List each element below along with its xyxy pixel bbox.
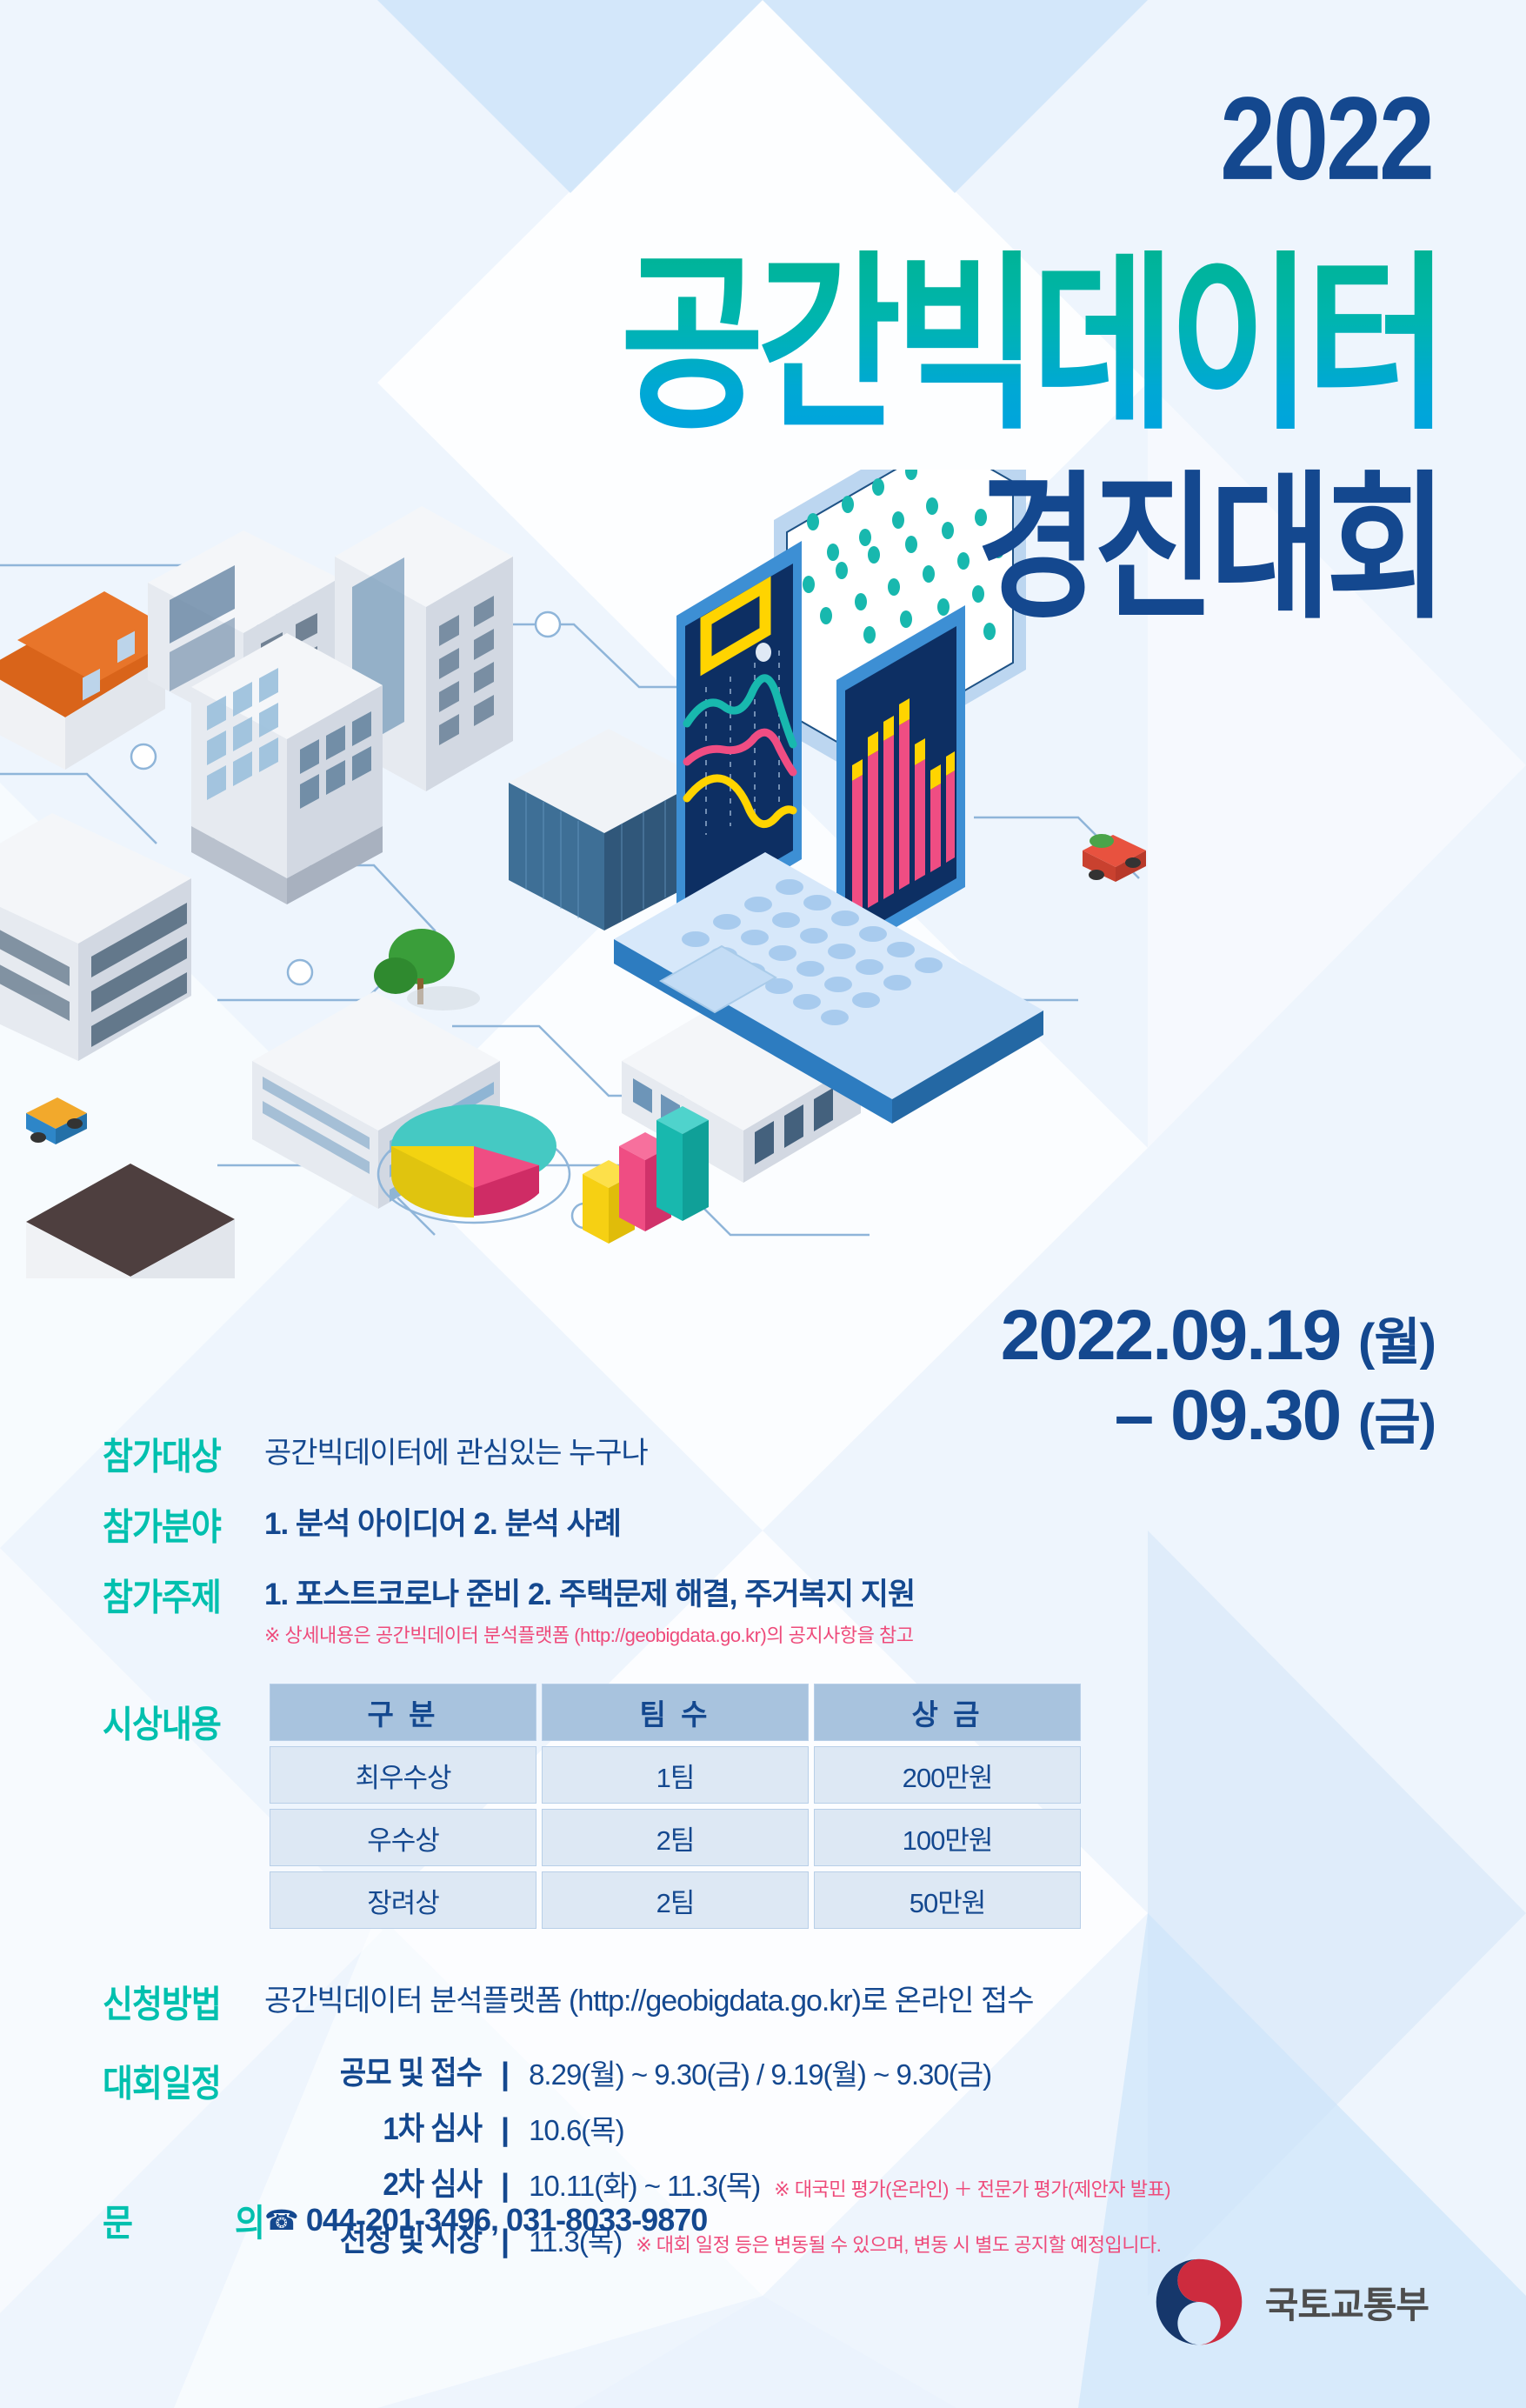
schedule-row-name: 공모 및 접수 [264,2047,482,2093]
awards-table: 구 분 팀 수 상 금 최우수상 1팀 200만원 우수상 2팀 100만원 장… [264,1678,1086,1934]
apply-value: 공간빅데이터 분석플랫폼 (http://geobigdata.go.kr)로 … [264,1974,1034,2019]
tree [374,929,480,1011]
table-header-row: 구 분 팀 수 상 금 [270,1684,1081,1741]
schedule-divider: | [501,2111,510,2148]
page-title: 공간빅데이터 [620,250,1443,442]
cell-category: 장려상 [270,1871,536,1929]
cell-prize: 100만원 [814,1809,1081,1866]
year-heading: 2022 [1220,71,1432,207]
schedule-row-note: ※ 대회 일정 등은 변동될 수 있으며, 변동 시 별도 공지할 예정입니다. [636,2230,1161,2258]
cell-category: 우수상 [270,1809,536,1866]
page-subtitle: 경진대회 [977,470,1443,628]
cell-prize: 50만원 [814,1871,1081,1929]
target-label: 참가대상 [103,1426,264,1480]
building-glass [509,729,704,931]
schedule-row: 1차 심사 | 10.6(목) [264,2107,1170,2149]
cell-teams: 2팀 [542,1809,809,1866]
pie-chart-3d [378,1104,570,1223]
info-row-topic: 참가주제 1. 포스트코로나 준비 2. 주택문제 해결, 주거복지 지원 ※ … [0,1567,1526,1648]
cell-category: 최우수상 [270,1746,536,1804]
th-prize: 상 금 [814,1684,1081,1741]
schedule-row: 공모 및 접수 | 8.29(월) ~ 9.30(금) / 9.19(월) ~ … [264,2051,1170,2093]
topic-value: 1. 포스트코로나 준비 2. 주택문제 해결, 주거복지 지원 [264,1567,915,1614]
topic-value-group: 1. 포스트코로나 준비 2. 주택문제 해결, 주거복지 지원 ※ 상세내용은… [264,1567,915,1648]
awards-label: 시상내용 [103,1694,264,1748]
contact-label: 문 의 [103,2193,264,2247]
truck-blue [26,1097,87,1144]
contact-section: 문 의 ☎ 044-201-3496, 031-8033-9870 [103,2196,707,2244]
awards-section: 시상내용 구 분 팀 수 상 금 최우수상 1팀 200만원 우수상 2팀 10… [0,1678,1526,1934]
info-section: 참가대상 공간빅데이터에 관심있는 누구나 참가분야 1. 분석 아이디어 2.… [0,1426,1526,1671]
ministry-name: 국토교통부 [1265,2276,1429,2329]
field-value: 1. 분석 아이디어 2. 분석 사례 [264,1497,621,1544]
footer-logo: 국토교통부 [1150,2253,1429,2351]
house-brown [26,1164,235,1278]
cell-teams: 2팀 [542,1871,809,1929]
schedule-label: 대회일정 [103,2053,264,2107]
building-mid [191,633,383,904]
cell-teams: 1팀 [542,1746,809,1804]
info-row-target: 참가대상 공간빅데이터에 관심있는 누구나 [0,1426,1526,1474]
schedule-row-value: 8.29(월) ~ 9.30(금) / 9.19(월) ~ 9.30(금) [529,2051,991,2093]
table-row: 최우수상 1팀 200만원 [270,1746,1081,1804]
cell-prize: 200만원 [814,1746,1081,1804]
date-start: 2022.09.19 [1001,1296,1340,1375]
target-value: 공간빅데이터에 관심있는 누구나 [264,1426,648,1471]
th-teams: 팀 수 [542,1684,809,1741]
phone-icon: ☎ [264,2204,299,2237]
taegeuk-logo-icon [1150,2253,1248,2351]
th-category: 구 분 [270,1684,536,1741]
info-row-field: 참가분야 1. 분석 아이디어 2. 분석 사례 [0,1497,1526,1544]
date-start-dow: (월) [1358,1314,1436,1371]
topic-label: 참가주제 [103,1567,264,1621]
field-label: 참가분야 [103,1497,264,1551]
contact-label-char-1: 문 [103,2193,132,2247]
schedule-divider: | [501,2056,510,2092]
schedule-row-value: 10.6(목) [529,2107,624,2149]
apply-row: 신청방법 공간빅데이터 분석플랫폼 (http://geobigdata.go.… [0,1974,1526,2022]
table-row: 우수상 2팀 100만원 [270,1809,1081,1866]
building-wide-left [0,813,191,1061]
contact-phone: 044-201-3496, 031-8033-9870 [306,2202,707,2238]
schedule-row-name: 1차 심사 [264,2103,482,2149]
apply-label: 신청방법 [103,1974,264,2028]
table-row: 장려상 2팀 50만원 [270,1871,1081,1929]
topic-note: ※ 상세내용은 공간빅데이터 분석플랫폼 (http://geobigdata.… [264,1620,915,1648]
contact-label-char-2: 의 [235,2193,264,2247]
schedule-row-note: ※ 대국민 평가(온라인) ＋ 전문가 평가(제안자 발표) [774,2174,1170,2202]
date-line-start: 2022.09.19 (월) [1001,1296,1436,1376]
